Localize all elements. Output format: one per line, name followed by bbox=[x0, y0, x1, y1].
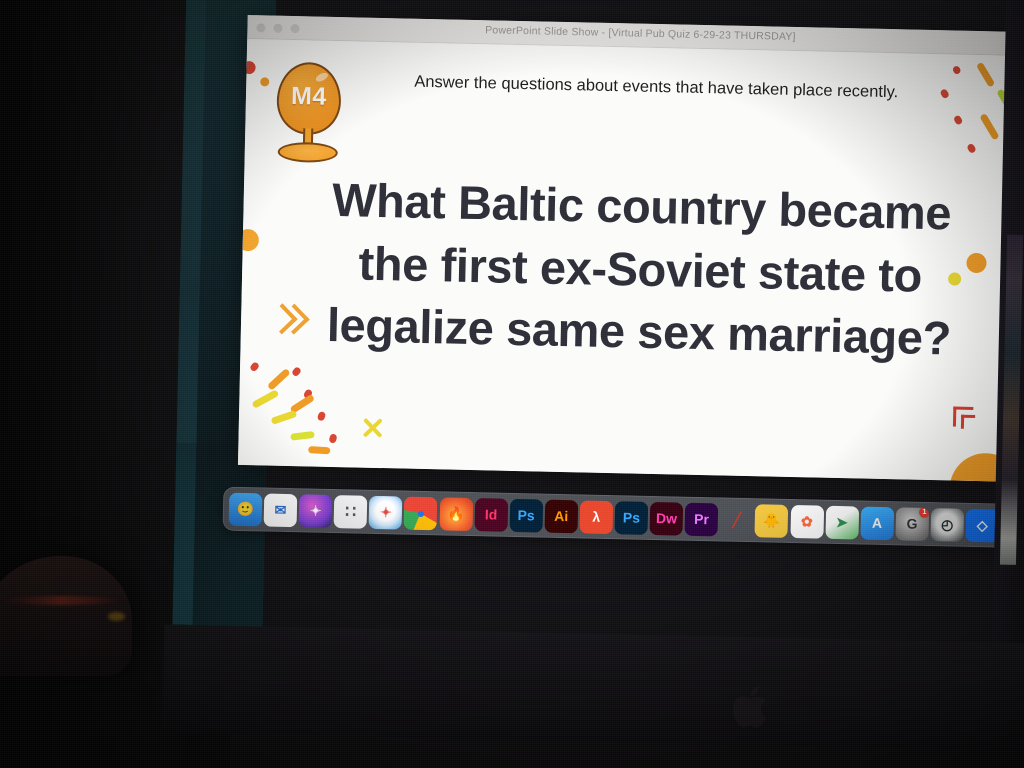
slide-canvas[interactable]: M4 Answer the questions about events tha… bbox=[238, 39, 1024, 482]
imac-monitor: PowerPoint Slide Show - [Virtual Pub Qui… bbox=[170, 0, 1024, 735]
maps-icon: ➤ bbox=[836, 515, 848, 529]
launchpad-icon: ∷ bbox=[345, 503, 356, 520]
dock-item-firefox[interactable]: 🔥 bbox=[439, 497, 473, 531]
dock-item-indesign[interactable]: Id bbox=[474, 498, 508, 532]
slide-question: What Baltic country became the first ex-… bbox=[288, 168, 992, 371]
time-machine-icon: ◴ bbox=[941, 517, 954, 531]
dock-item-photoshop-2[interactable]: Ps bbox=[615, 501, 649, 535]
dock-item-siri[interactable]: ✦ bbox=[299, 494, 333, 528]
finder-icon: 🙂 bbox=[237, 502, 255, 516]
dock-item-maps[interactable]: ➤ bbox=[825, 505, 859, 539]
photograph-of-monitor: PowerPoint Slide Show - [Virtual Pub Qui… bbox=[0, 0, 1024, 768]
foreground-object-highlight bbox=[2, 596, 120, 605]
premiere-icon: Pr bbox=[694, 512, 709, 526]
photoshop-icon: Ps bbox=[517, 508, 534, 522]
dock-item-safari[interactable]: ✦ bbox=[369, 495, 403, 529]
badge-label: M4 bbox=[270, 82, 349, 113]
screen: PowerPoint Slide Show - [Virtual Pub Qui… bbox=[172, 0, 1024, 643]
dock-item-illustrator[interactable]: Ai bbox=[544, 499, 578, 533]
dock-item-launchpad[interactable]: ∷ bbox=[334, 495, 368, 529]
photoshop-2-icon: Ps bbox=[623, 510, 640, 524]
apple-logo bbox=[730, 681, 775, 734]
illustrator-icon: Ai bbox=[554, 509, 568, 523]
dropbox-icon: ◇ bbox=[977, 518, 988, 532]
dock-item-duck[interactable]: 🐥 bbox=[755, 504, 789, 538]
decor-dashes-bottom-left bbox=[246, 357, 408, 468]
dock-item-photoshop[interactable]: Ps bbox=[509, 498, 543, 532]
measure-icon: ╱ bbox=[732, 513, 741, 527]
dock-item-mimestream[interactable]: ✉ bbox=[264, 493, 298, 527]
dock-item-chrome[interactable]: ● bbox=[404, 496, 438, 530]
slide-subtitle: Answer the questions about events that h… bbox=[396, 70, 916, 104]
decor-corner-bracket-red-inner bbox=[961, 415, 975, 429]
chrome-icon: ● bbox=[416, 506, 425, 520]
dock-badge-grammarly: 1 bbox=[919, 507, 929, 518]
dock-item-measure[interactable]: ╱ bbox=[720, 503, 754, 537]
dock-item-photos[interactable]: ✿ bbox=[790, 504, 824, 538]
powerpoint-slideshow-window[interactable]: PowerPoint Slide Show - [Virtual Pub Qui… bbox=[238, 15, 1024, 482]
duck-icon: 🐥 bbox=[763, 513, 781, 527]
dock-item-time-machine[interactable]: ◴ bbox=[930, 508, 964, 542]
siri-icon: ✦ bbox=[310, 504, 322, 518]
indesign-icon: Id bbox=[485, 507, 498, 521]
app-store-icon: A bbox=[872, 516, 882, 530]
grammarly-icon: G bbox=[906, 517, 917, 531]
decor-cross-yellow bbox=[361, 416, 386, 441]
safari-icon: ✦ bbox=[380, 505, 392, 519]
dock-item-acrobat[interactable]: λ bbox=[579, 500, 613, 534]
question-number-badge: M4 bbox=[269, 62, 349, 164]
dock-item-dreamweaver[interactable]: Dw bbox=[650, 501, 684, 535]
dreamweaver-icon: Dw bbox=[656, 511, 677, 525]
foreground-object-light bbox=[108, 612, 125, 621]
badge-base bbox=[278, 142, 338, 163]
decor-dot-orange-topleft bbox=[260, 77, 269, 86]
photos-icon: ✿ bbox=[801, 514, 813, 528]
dock-item-grammarly[interactable]: G1 bbox=[895, 507, 929, 541]
acrobat-icon: λ bbox=[592, 510, 600, 524]
firefox-icon: 🔥 bbox=[447, 507, 465, 521]
mimestream-icon: ✉ bbox=[275, 503, 287, 517]
dock-item-app-store[interactable]: A bbox=[860, 506, 894, 540]
monitor-chin bbox=[162, 624, 1024, 751]
dock-item-premiere[interactable]: Pr bbox=[685, 502, 719, 536]
macos-dock[interactable]: 🙂✉✦∷✦●🔥IdPsAiλPsDwPr╱🐥✿➤AG1◴◇ⓘtvX bbox=[222, 487, 1019, 548]
dock-item-finder[interactable]: 🙂 bbox=[229, 492, 263, 526]
